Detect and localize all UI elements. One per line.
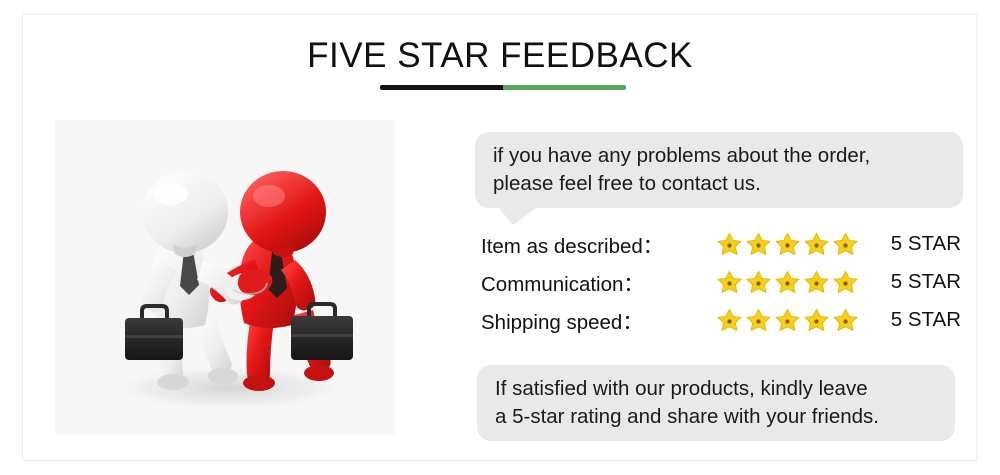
rating-value: 5 STAR: [891, 308, 966, 332]
leave-rating-line-1: If satisfied with our products, kindly l…: [495, 375, 939, 403]
contact-us-line-1: if you have any problems about the order…: [493, 142, 947, 170]
rating-row: Shipping speed： 5 STAR: [481, 301, 966, 339]
star-icon: [745, 231, 772, 257]
rule-segment-green: [503, 85, 626, 90]
rating-row: Communication： 5 STAR: [481, 263, 966, 301]
handshake-illustration-icon: [55, 120, 395, 435]
rating-label: Communication：: [481, 267, 716, 297]
star-icon: [774, 269, 801, 295]
illustration-panel: [55, 120, 395, 435]
star-icon: [774, 307, 801, 333]
leave-rating-bubble: If satisfied with our products, kindly l…: [477, 365, 955, 441]
feedback-content: if you have any problems about the order…: [470, 120, 965, 440]
rating-list: Item as described： 5 STAR Communication：: [481, 225, 966, 339]
star-icon: [716, 269, 743, 295]
page-title: FIVE STAR FEEDBACK: [0, 36, 1000, 76]
contact-us-line-2: please feel free to contact us.: [493, 170, 947, 198]
contact-us-bubble: if you have any problems about the order…: [475, 132, 963, 208]
star-rating-item-as-described[interactable]: [716, 231, 866, 257]
star-icon: [745, 269, 772, 295]
star-rating-shipping-speed[interactable]: [716, 307, 866, 333]
rating-value: 5 STAR: [891, 232, 966, 256]
star-icon: [716, 307, 743, 333]
rule-segment-black: [380, 85, 503, 90]
star-icon: [832, 307, 859, 333]
star-icon: [832, 269, 859, 295]
star-icon: [774, 231, 801, 257]
rating-value: 5 STAR: [891, 270, 966, 294]
star-icon: [745, 307, 772, 333]
feedback-banner: FIVE STAR FEEDBACK: [0, 0, 1000, 475]
star-rating-communication[interactable]: [716, 269, 866, 295]
star-icon: [803, 307, 830, 333]
star-icon: [803, 231, 830, 257]
star-icon: [803, 269, 830, 295]
speech-bubble-tail-icon: [497, 206, 539, 225]
star-icon: [716, 231, 743, 257]
rating-label: Item as described：: [481, 229, 716, 259]
rating-row: Item as described： 5 STAR: [481, 225, 966, 263]
title-underline-rule: [380, 85, 626, 90]
star-icon: [832, 231, 859, 257]
rating-label: Shipping speed：: [481, 305, 716, 335]
leave-rating-line-2: a 5-star rating and share with your frie…: [495, 403, 939, 431]
